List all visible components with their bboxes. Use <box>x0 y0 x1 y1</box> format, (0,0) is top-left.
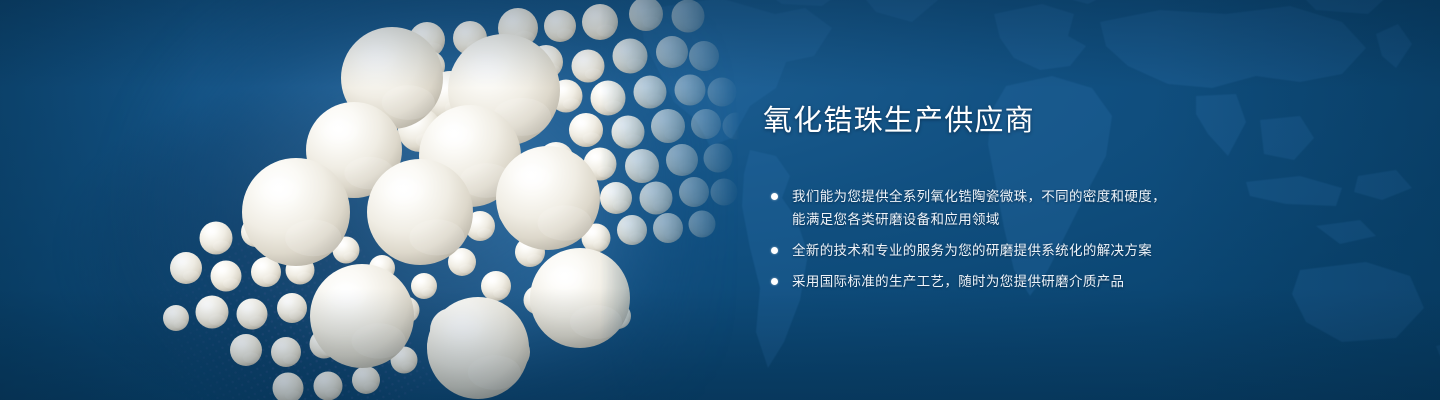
bullet-dot-icon <box>771 247 778 254</box>
bullet-line: 采用国际标准的生产工艺，随时为您提供研磨介质产品 <box>792 270 1263 293</box>
banner-headline: 氧化锆珠生产供应商 <box>763 104 1263 138</box>
feature-bullet-item: 采用国际标准的生产工艺，随时为您提供研磨介质产品 <box>763 270 1263 293</box>
feature-bullet-item: 全新的技术和专业的服务为您的研磨提供系统化的解决方案 <box>763 239 1263 262</box>
bullet-dot-icon <box>771 278 778 285</box>
bullet-line: 全新的技术和专业的服务为您的研磨提供系统化的解决方案 <box>792 239 1263 262</box>
banner-copy: 氧化锆珠生产供应商 我们能为您提供全系列氧化锆陶瓷微珠，不同的密度和硬度， 能满… <box>763 104 1263 293</box>
feature-bullet-list: 我们能为您提供全系列氧化锆陶瓷微珠，不同的密度和硬度， 能满足您各类研磨设备和应… <box>763 185 1263 293</box>
bullet-dot-icon <box>771 193 778 200</box>
feature-bullet-item: 我们能为您提供全系列氧化锆陶瓷微珠，不同的密度和硬度， 能满足您各类研磨设备和应… <box>763 185 1263 231</box>
hero-banner: 氧化锆珠生产供应商 我们能为您提供全系列氧化锆陶瓷微珠，不同的密度和硬度， 能满… <box>0 0 1440 400</box>
bullet-line: 能满足您各类研磨设备和应用领域 <box>792 208 1263 231</box>
bullet-line: 我们能为您提供全系列氧化锆陶瓷微珠，不同的密度和硬度， <box>792 185 1263 208</box>
